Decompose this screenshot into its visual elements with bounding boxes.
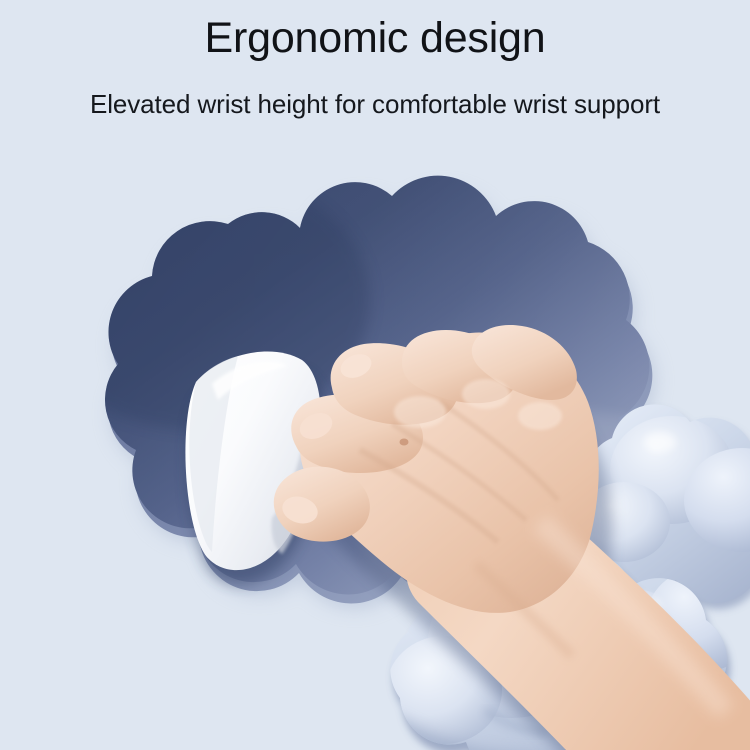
product-photo [0,150,750,750]
product-banner: Ergonomic design Elevated wrist height f… [0,0,750,750]
page-title: Ergonomic design [0,13,750,63]
page-subtitle: Elevated wrist height for comfortable wr… [0,88,750,120]
